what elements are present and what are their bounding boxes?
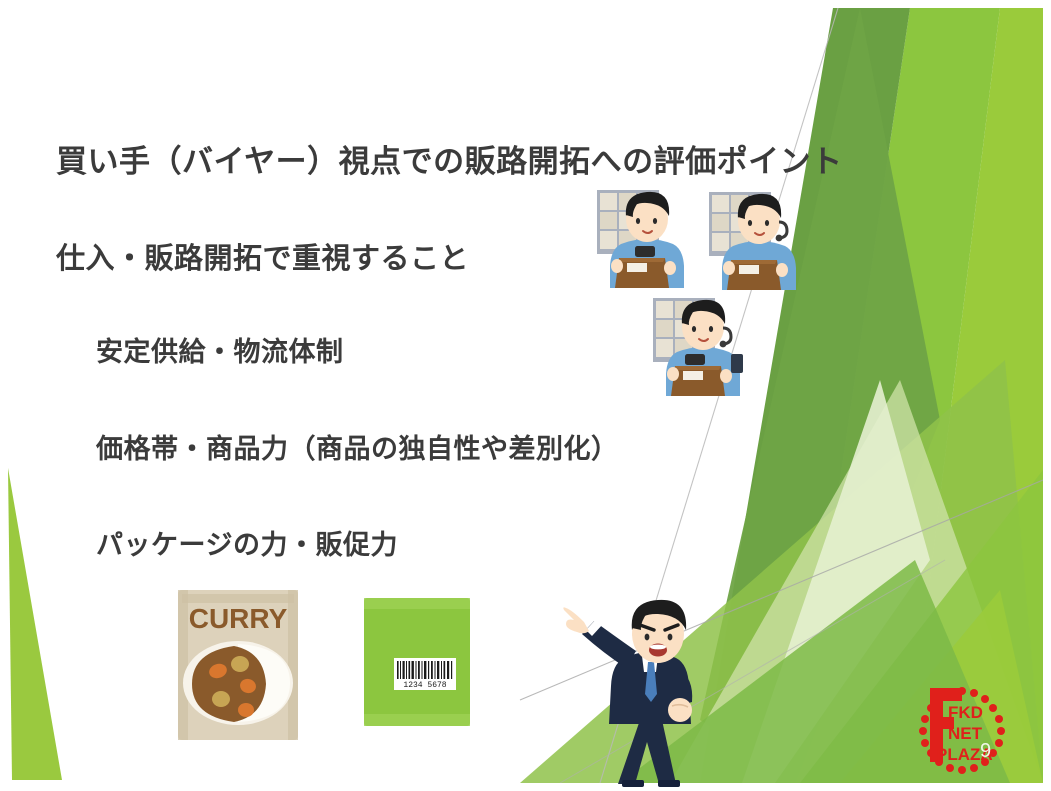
slide-subheading: 仕入・販路開拓で重視すること [56,235,469,277]
slide-title: 買い手（バイヤー）視点での販路開拓への評価ポイント [56,136,843,181]
bullet-item-price: 価格帯・商品力（商品の独自性や差別化） [96,427,619,466]
green-package-illustration: 1234 5678 [358,596,476,728]
worker-bottom-center [653,298,743,396]
potato-piece [212,691,230,707]
worker-top-left [597,190,684,288]
bottom-margin [0,783,1051,791]
worker-top-right [709,192,796,290]
handheld-terminal-icon [731,354,743,373]
right-margin [1043,0,1051,791]
potato-piece [231,656,249,672]
pointing-businessman-illustration [562,592,738,791]
warehouse-workers-illustration [595,186,813,398]
top-margin [0,0,1051,8]
logo-text-net: NET [948,724,983,743]
retort-curry-package-illustration: CURRY [168,586,308,744]
slide-background-decoration [0,0,1051,791]
fist [668,698,692,722]
fkd-net-plaza-logo: FKD NET PLAZA [916,684,1008,776]
bullet-item-supply: 安定供給・物流体制 [96,330,344,369]
barcode-scanner-icon [685,354,705,365]
curry-label-text: CURRY [189,603,288,634]
pointing-hand [563,607,589,633]
barcode-scanner-icon [635,246,655,257]
page-number: 9 [980,740,991,763]
presentation-slide: 買い手（バイヤー）視点での販路開拓への評価ポイント 仕入・販路開拓で重視すること… [0,0,1051,791]
left-margin [0,0,8,791]
carrot-piece [238,703,254,717]
logo-text-fkd: FKD [948,703,983,722]
trousers [618,720,676,784]
barcode-digits: 1234 5678 [403,681,446,690]
bullet-item-package: パッケージの力・販促力 [96,523,398,562]
